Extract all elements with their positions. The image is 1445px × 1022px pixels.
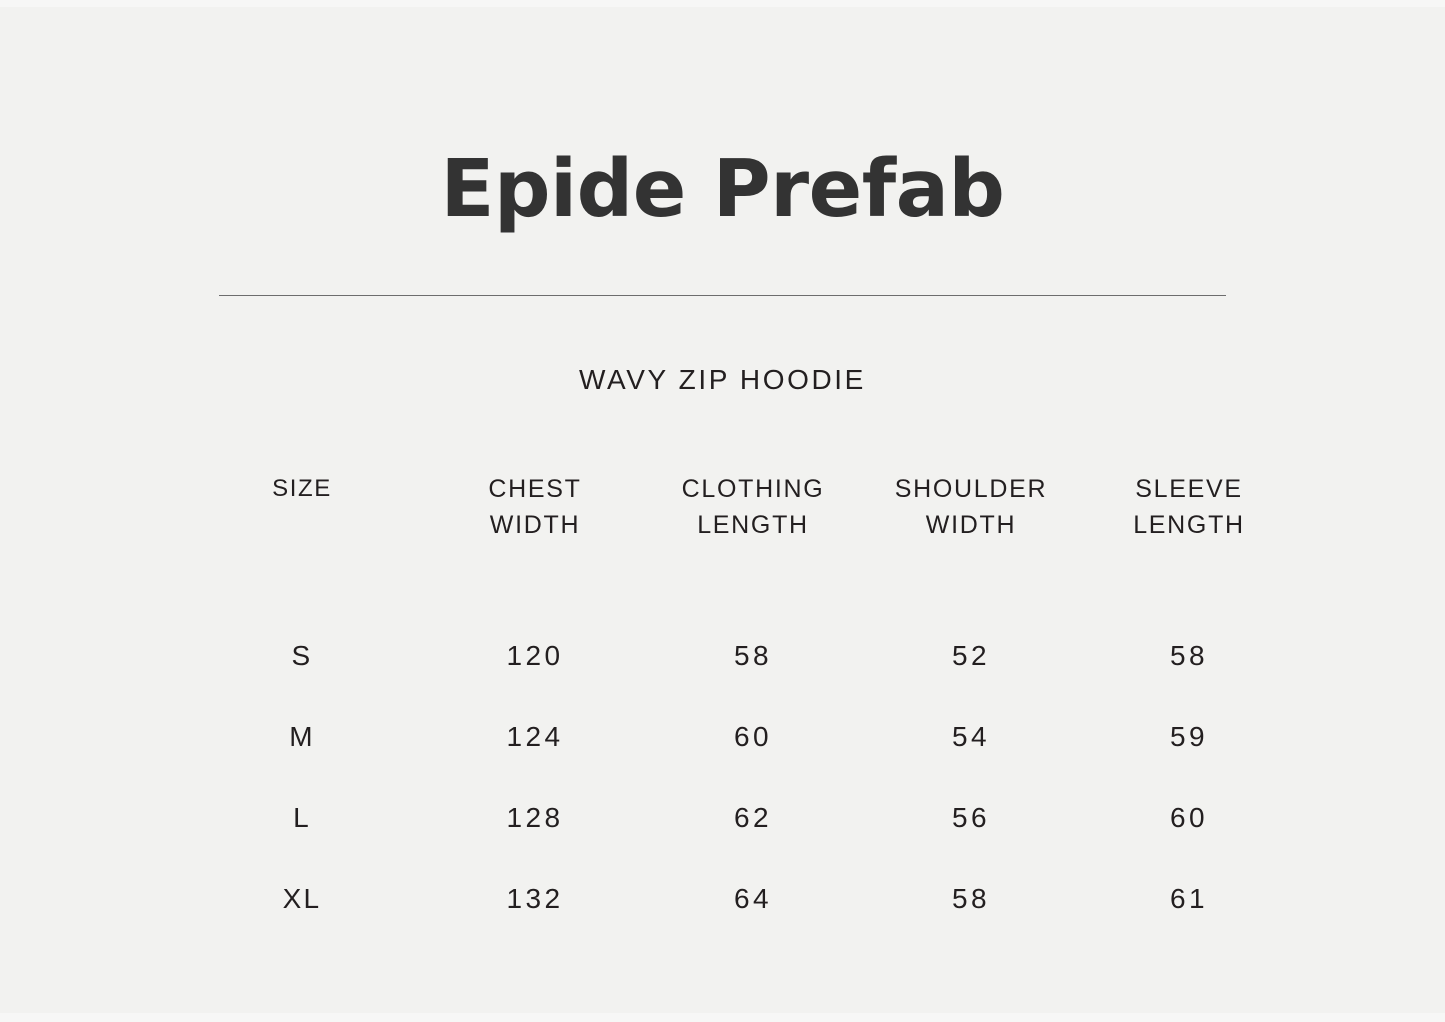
size-chart-table: SIZE CHEST WIDTH CLOTHING LENGTH SHOULDE…: [178, 472, 1298, 939]
cell-shoulder-width: 52: [862, 543, 1080, 696]
cell-sleeve-length: 61: [1080, 858, 1298, 939]
cell-clothing-length: 64: [644, 858, 862, 939]
cell-chest-width: 132: [426, 858, 644, 939]
column-header-size: SIZE: [178, 472, 426, 543]
cell-size: XL: [178, 858, 426, 939]
cell-chest-width: 124: [426, 696, 644, 777]
cell-size: S: [178, 543, 426, 696]
cell-size: L: [178, 777, 426, 858]
table-body: S 120 58 52 58 M 124 60 54 59 L 128 62 5…: [178, 543, 1298, 939]
cell-shoulder-width: 58: [862, 858, 1080, 939]
table-row: XL 132 64 58 61: [178, 858, 1298, 939]
size-chart-sheet: Epide Prefab WAVY ZIP HOODIE SIZE CHEST …: [0, 0, 1445, 1022]
table-row: L 128 62 56 60: [178, 777, 1298, 858]
column-header-sleeve-length: SLEEVE LENGTH: [1080, 472, 1298, 543]
header-divider: [219, 295, 1226, 296]
cell-chest-width: 128: [426, 777, 644, 858]
table-header: SIZE CHEST WIDTH CLOTHING LENGTH SHOULDE…: [178, 472, 1298, 543]
cell-shoulder-width: 54: [862, 696, 1080, 777]
table-row: S 120 58 52 58: [178, 543, 1298, 696]
cell-chest-width: 120: [426, 543, 644, 696]
cell-sleeve-length: 60: [1080, 777, 1298, 858]
cell-clothing-length: 58: [644, 543, 862, 696]
cell-size: M: [178, 696, 426, 777]
column-header-shoulder-width: SHOULDER WIDTH: [862, 472, 1080, 543]
cell-sleeve-length: 59: [1080, 696, 1298, 777]
column-header-clothing-length: CLOTHING LENGTH: [644, 472, 862, 543]
brand-title: Epide Prefab: [0, 150, 1445, 229]
cell-clothing-length: 62: [644, 777, 862, 858]
table-row: M 124 60 54 59: [178, 696, 1298, 777]
table-header-row: SIZE CHEST WIDTH CLOTHING LENGTH SHOULDE…: [178, 472, 1298, 543]
cell-sleeve-length: 58: [1080, 543, 1298, 696]
product-name: WAVY ZIP HOODIE: [0, 364, 1445, 396]
cell-clothing-length: 60: [644, 696, 862, 777]
cell-shoulder-width: 56: [862, 777, 1080, 858]
column-header-chest-width: CHEST WIDTH: [426, 472, 644, 543]
